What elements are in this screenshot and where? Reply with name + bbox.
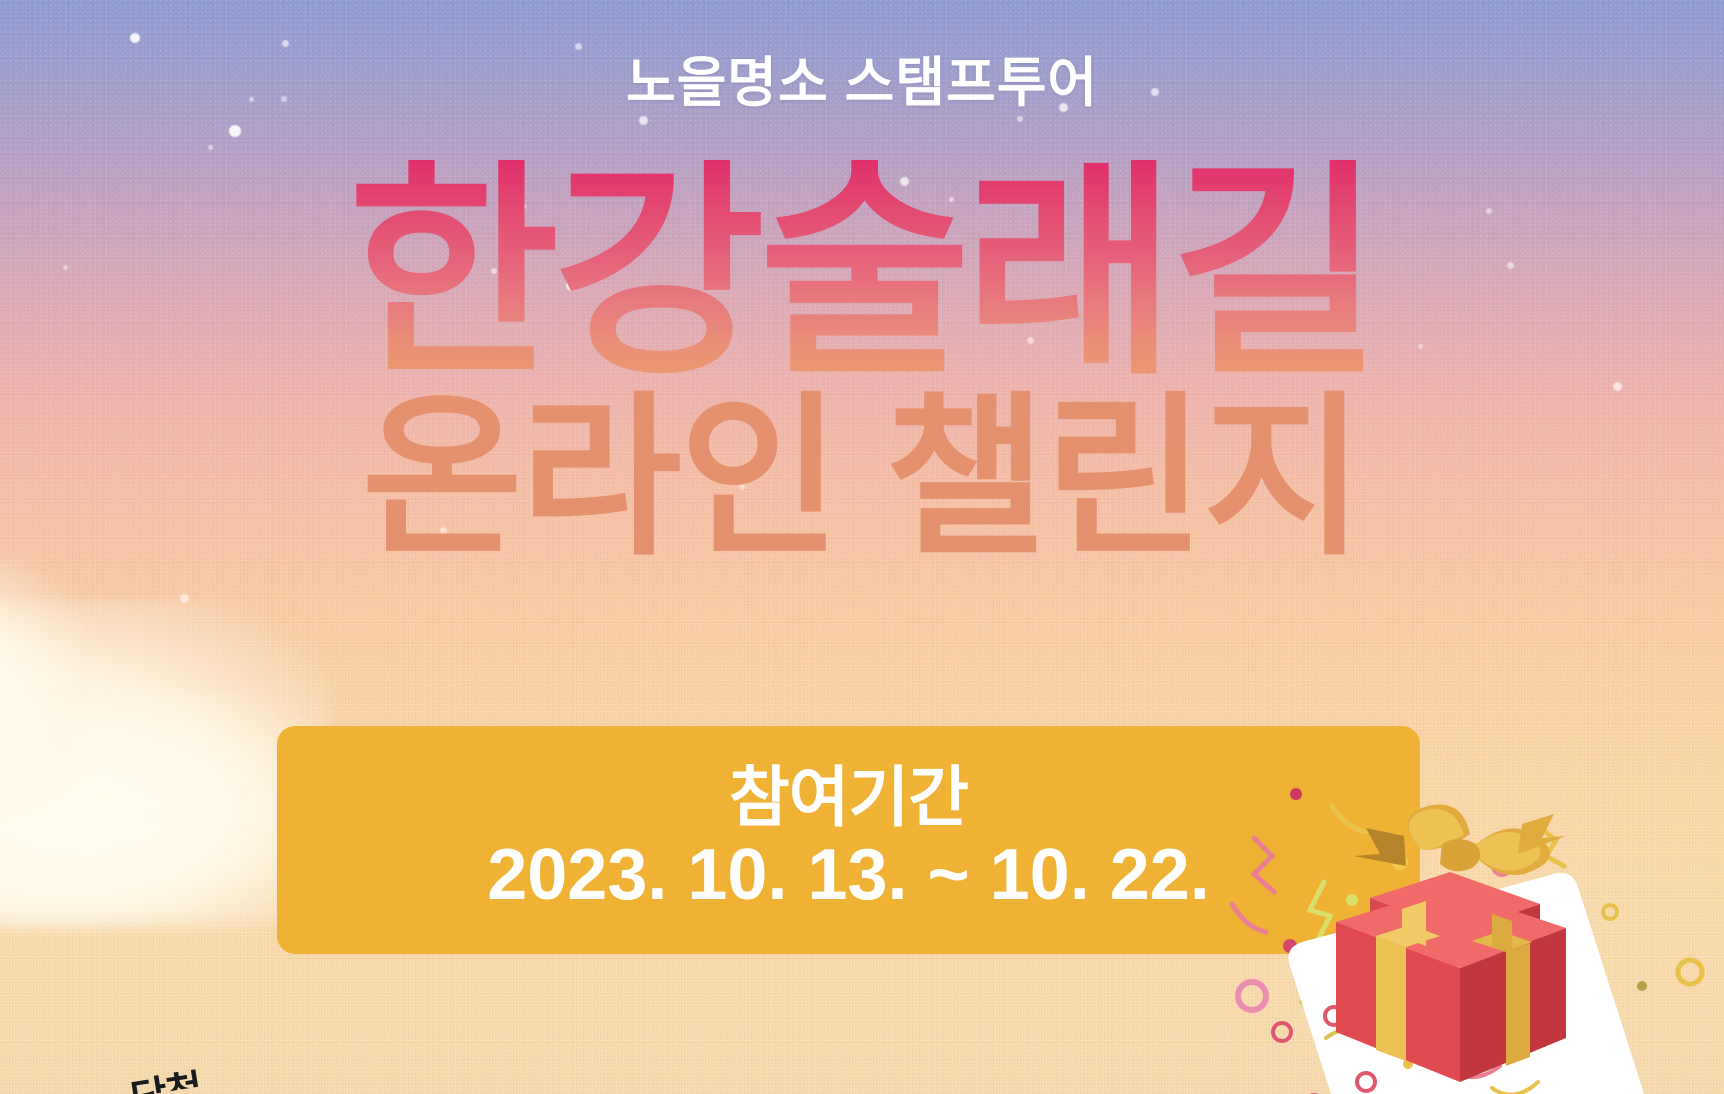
star-icon [639,116,648,125]
kicker-text: 노을명소 스탬프투어 [0,38,1724,117]
period-dates: 2023. 10. 13. ~ 10. 22. [487,834,1210,917]
envelope-label: 당첨 [126,1057,201,1094]
promo-poster: 노을명소 스탬프투어 한강술래길 온라인 챌린지 참여기간 2023. 10. … [0,0,1724,1094]
gift-box-shape [1336,805,1566,1082]
star-icon [180,594,189,603]
gift-box-icon [1254,770,1724,1094]
star-icon [229,125,241,137]
title-block: 한강술래길 온라인 챌린지 [0,160,1724,566]
page-subtitle: 온라인 챌린지 [0,391,1724,566]
star-icon [208,145,213,150]
page-title: 한강술래길 [0,160,1724,385]
period-label: 참여기간 [729,763,968,832]
cloud-icon [0,560,80,810]
